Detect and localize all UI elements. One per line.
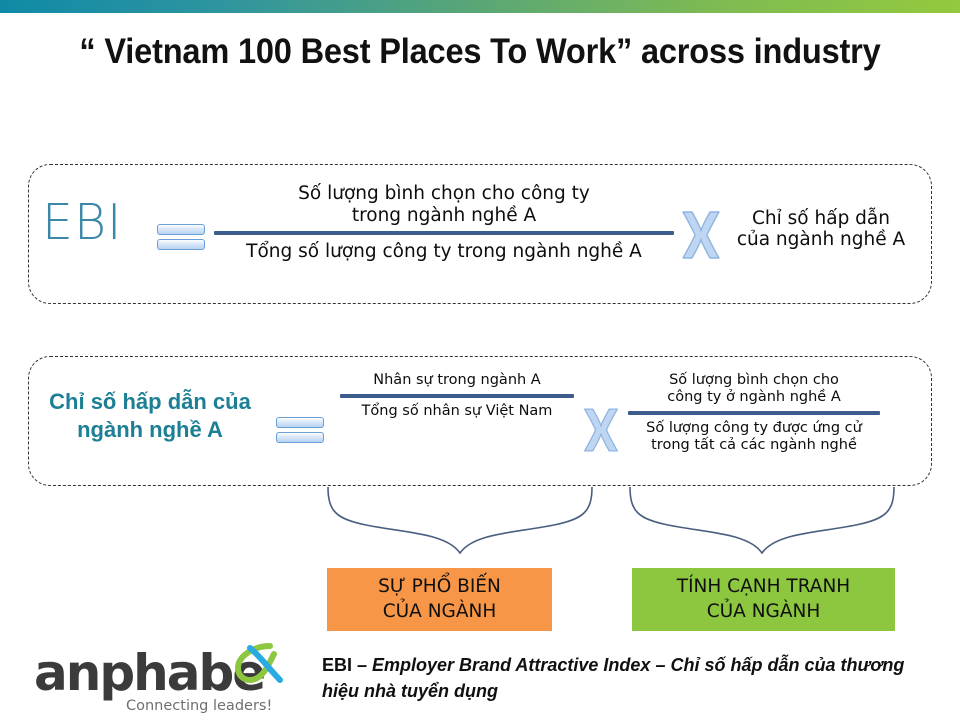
equals-icon (157, 224, 205, 250)
fraction-two-right: Số lượng bình chọn cho công ty ở ngành n… (628, 372, 880, 454)
ebi-label: EBI (42, 198, 123, 247)
fraction-two-left-denominator: Tổng số nhân sự Việt Nam (340, 403, 574, 420)
fraction-one-bar (214, 231, 674, 236)
fraction-one-numerator: Số lượng bình chọn cho công ty trong ngà… (214, 183, 674, 227)
multiply-icon (581, 407, 621, 453)
footnote: EBI – Employer Brand Attractive Index – … (322, 653, 942, 704)
fraction-two-right-numerator: Số lượng bình chọn cho công ty ở ngành n… (628, 372, 880, 406)
callout-popularity: SỰ PHỔ BIẾN CỦA NGÀNH (327, 568, 552, 631)
industry-attractiveness-result: Chỉ số hấp dẫn của ngành nghề A (714, 208, 928, 250)
equals-icon (276, 417, 324, 443)
equals-bar-bottom (157, 239, 205, 250)
equals-bar-top (157, 224, 205, 235)
anphabe-logo: anphabe Connecting leaders! (34, 648, 304, 716)
equals-bar-top (276, 417, 324, 428)
callout-competitiveness: TÍNH CẠNH TRANH CỦA NGÀNH (632, 568, 895, 631)
slide-canvas: “ Vietnam 100 Best Places To Work” acros… (0, 0, 960, 720)
fraction-one: Số lượng bình chọn cho công ty trong ngà… (214, 183, 674, 263)
curly-brace-right-icon (628, 487, 896, 555)
alpha-icon (230, 642, 286, 684)
equals-bar-bottom (276, 432, 324, 443)
logo-tagline: Connecting leaders! (126, 698, 272, 714)
fraction-two-left-numerator: Nhân sự trong ngành A (340, 372, 574, 389)
fraction-two-left-bar (340, 394, 574, 398)
top-accent-bar (0, 0, 960, 13)
fraction-two-right-bar (628, 411, 880, 415)
footnote-emphasis: Employer Brand Attractive Index – Chỉ số… (322, 655, 904, 701)
fraction-two-left: Nhân sự trong ngành A Tổng số nhân sự Vi… (340, 372, 574, 420)
fraction-two-right-denominator: Số lượng công ty được ứng cử trong tất c… (628, 420, 880, 454)
footnote-prefix: EBI – (322, 655, 372, 675)
curly-brace-left-icon (326, 487, 594, 555)
page-title: “ Vietnam 100 Best Places To Work” acros… (34, 32, 927, 72)
industry-attractiveness-label: Chỉ số hấp dẫn của ngành nghề A (30, 388, 270, 444)
fraction-one-denominator: Tổng số lượng công ty trong ngành nghề A (214, 241, 674, 263)
